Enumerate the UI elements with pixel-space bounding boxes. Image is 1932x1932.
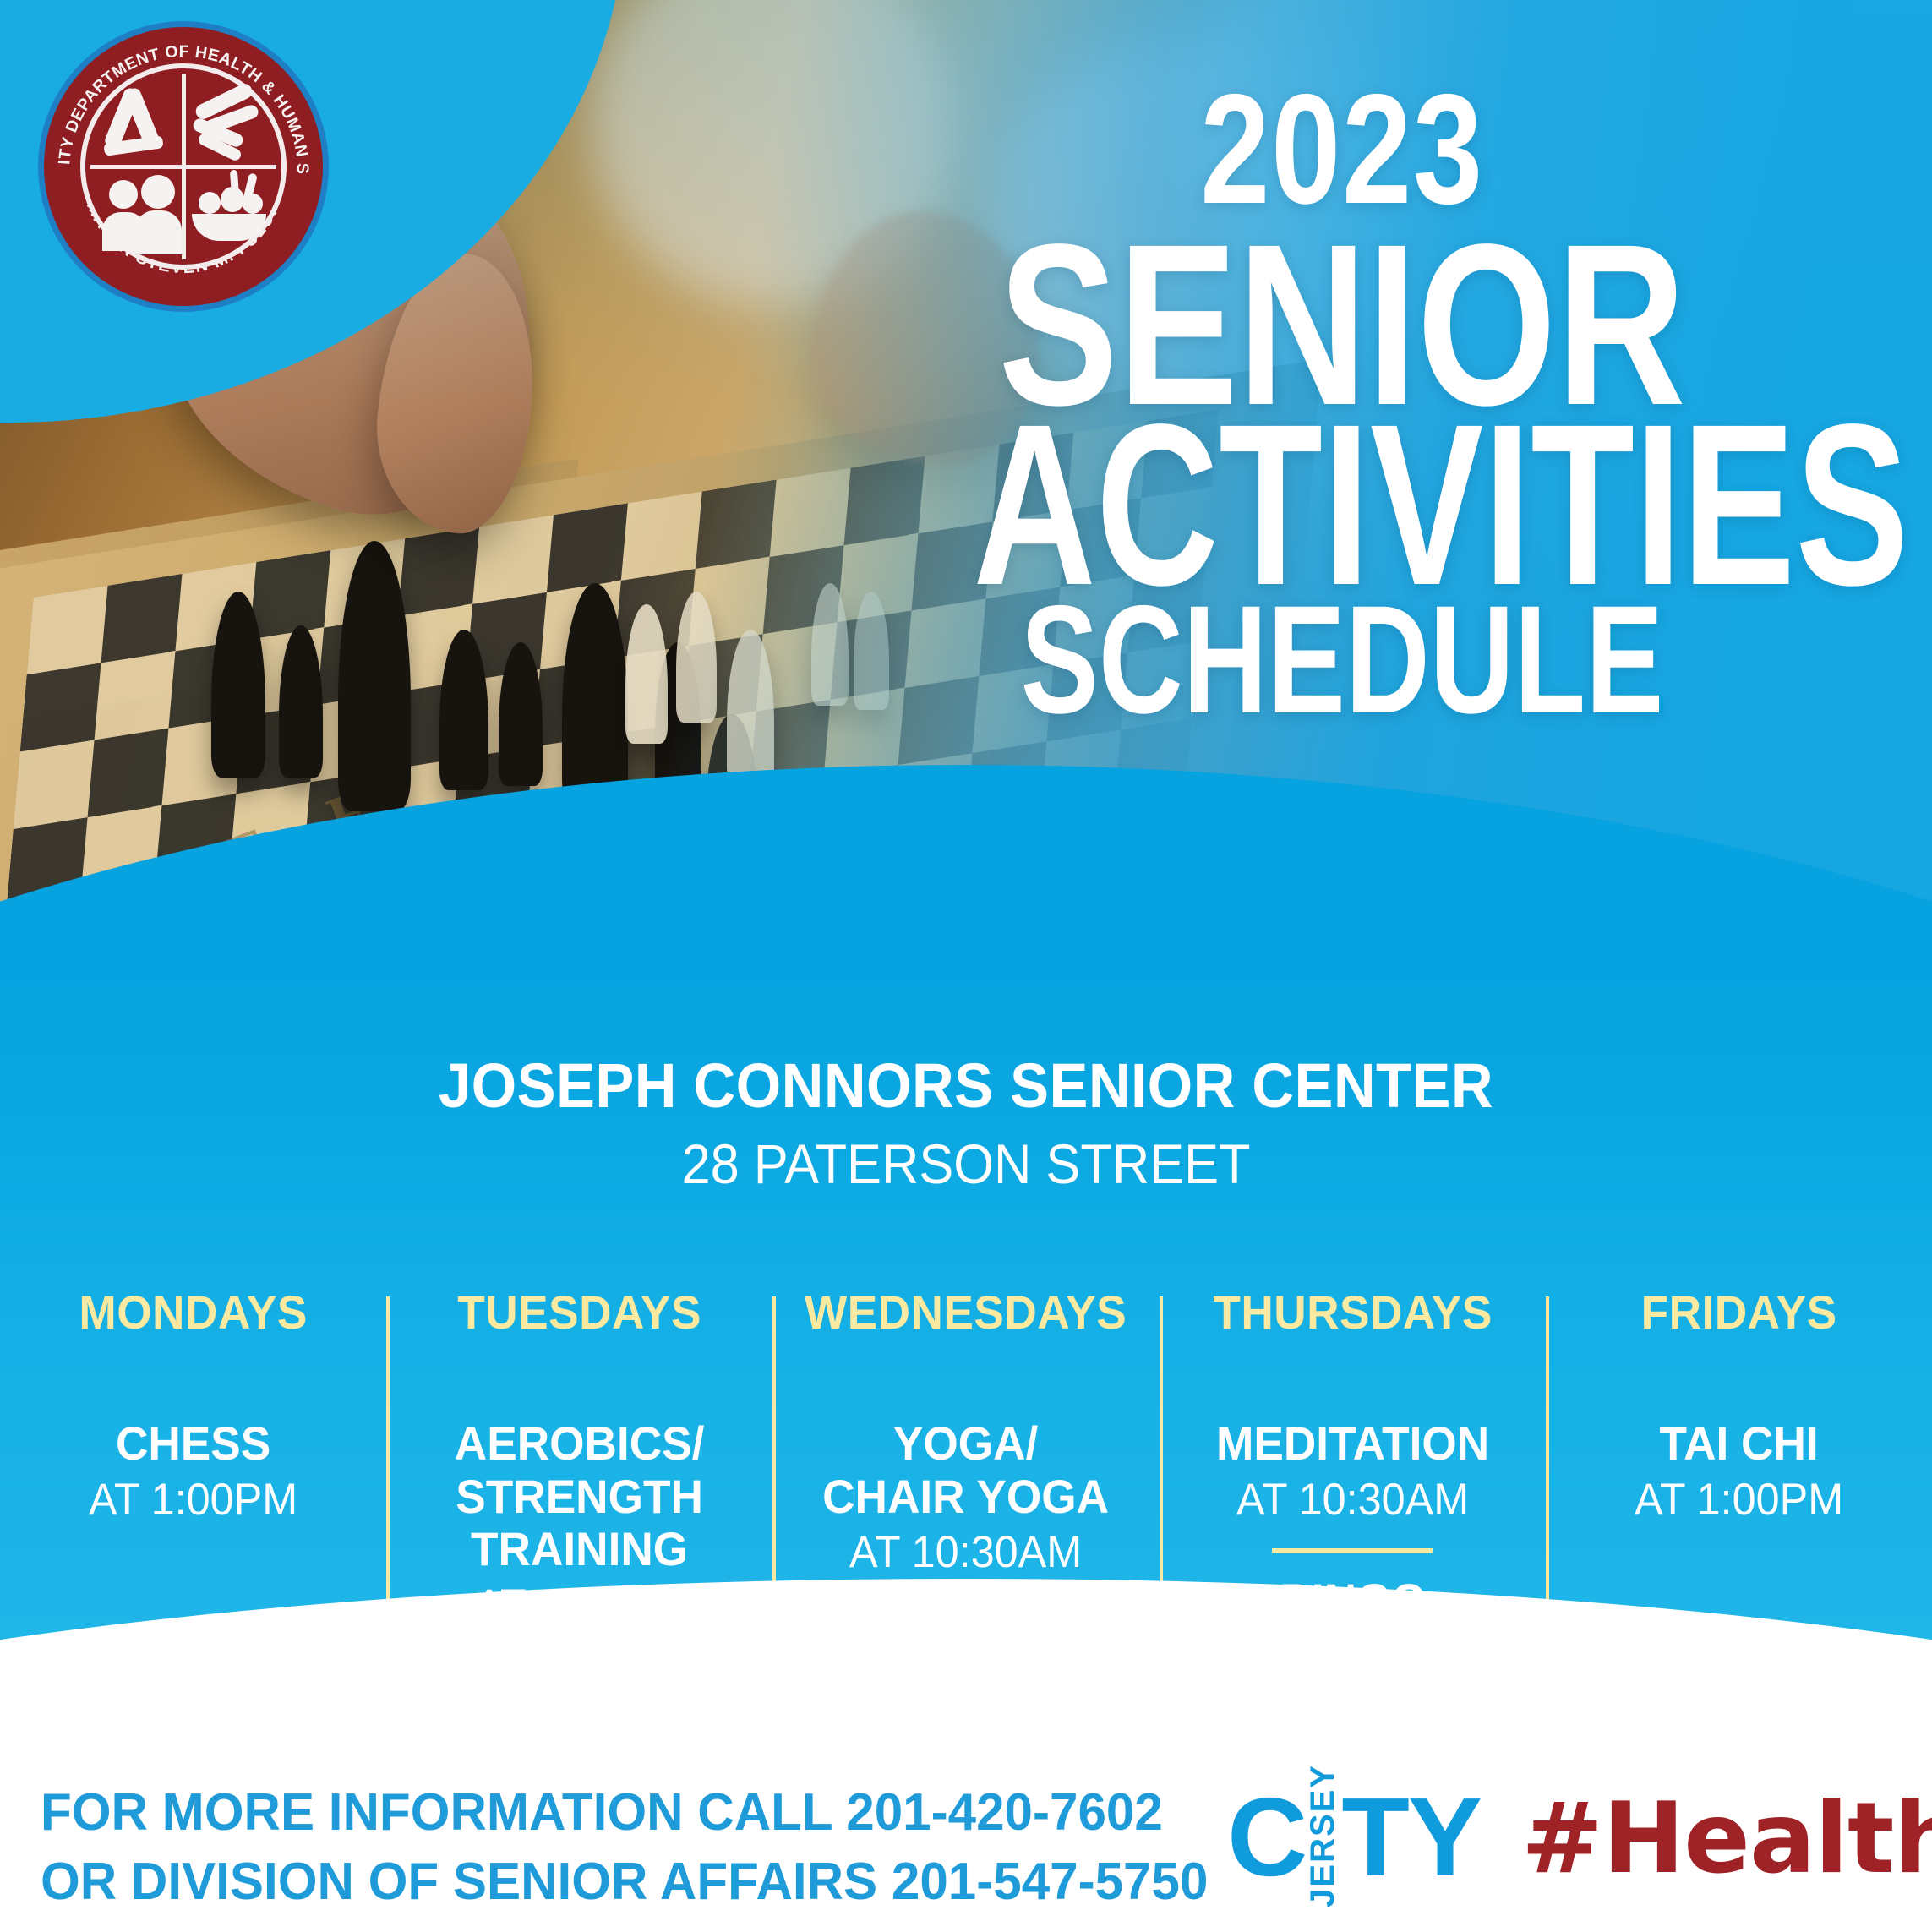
- seal-emblem: [80, 63, 287, 270]
- activity-name: TAI CHI: [1568, 1417, 1909, 1471]
- poster-headline: 2023 SENIOR ACTIVITIES SCHEDULE: [843, 81, 1841, 727]
- entry-divider: [1272, 1548, 1433, 1553]
- logo-word-jersey: JERSEY: [1306, 1764, 1340, 1907]
- venue-address: 28 PATERSON STREET: [68, 1132, 1864, 1196]
- family-people-icon: [109, 180, 138, 209]
- headline-line-schedule: SCHEDULE: [963, 592, 1722, 727]
- day-header: MONDAYS: [23, 1285, 364, 1340]
- healthier-jc-hashtag: #HealthierJC: [1521, 1790, 1932, 1888]
- poster-canvas: H G F E D C: [0, 0, 1932, 1932]
- schedule-entry: CHESSAT 1:00PM: [14, 1417, 373, 1526]
- poster-footer: FOR MORE INFORMATION CALL 201-420-7602 O…: [0, 1766, 1932, 1932]
- logo-letter-c: C: [1227, 1782, 1304, 1893]
- jersey-city-logo: C JERSEY TY: [1227, 1788, 1481, 1886]
- venue-block: JOSEPH CONNORS SENIOR CENTER 28 PATERSON…: [0, 1050, 1932, 1196]
- schedule-entry: TAI CHIAT 1:00PM: [1559, 1417, 1918, 1526]
- day-header: WEDNESDAYS: [795, 1285, 1137, 1340]
- food-basket-icon: [230, 170, 239, 198]
- contact-line-2: OR DIVISION OF SENIOR AFFAIRS 201-547-57…: [41, 1847, 1208, 1917]
- contact-info: FOR MORE INFORMATION CALL 201-420-7602 O…: [41, 1778, 1208, 1917]
- seal-divider-horizontal: [90, 165, 276, 169]
- logo-letters-ty: TY: [1341, 1782, 1481, 1893]
- day-header: THURSDAYS: [1182, 1285, 1523, 1340]
- schedule-entry: YOGA/CHAIR YOGAAT 10:30AM: [786, 1417, 1145, 1580]
- day-header: TUESDAYS: [409, 1285, 750, 1340]
- schedule-entry: MEDITATIONAT 10:30AM: [1173, 1417, 1532, 1526]
- activity-time: AT 1:00PM: [1568, 1474, 1909, 1527]
- jersey-city-health-seal: JERSEY CITY DEPARTMENT OF HEALTH & HUMAN…: [44, 27, 323, 306]
- family-people-icon: [134, 210, 182, 254]
- activity-time: AT 1:00PM: [23, 1474, 364, 1527]
- activity-name: AEROBICS/STRENGTHTRAINING: [409, 1417, 750, 1576]
- activity-time: AT 10:30AM: [1182, 1474, 1523, 1527]
- day-header: FRIDAYS: [1568, 1285, 1909, 1340]
- food-basket-icon: [199, 192, 221, 214]
- activity-name: MEDITATION: [1182, 1417, 1523, 1471]
- venue-name: JOSEPH CONNORS SENIOR CENTER: [68, 1050, 1864, 1122]
- activity-name: CHESS: [23, 1417, 364, 1471]
- activity-name: YOGA/CHAIR YOGA: [795, 1417, 1137, 1523]
- food-basket-icon: [192, 214, 266, 241]
- contact-line-1: FOR MORE INFORMATION CALL 201-420-7602: [41, 1778, 1208, 1847]
- activity-time: AT 10:30AM: [795, 1526, 1137, 1580]
- family-people-icon: [141, 175, 175, 209]
